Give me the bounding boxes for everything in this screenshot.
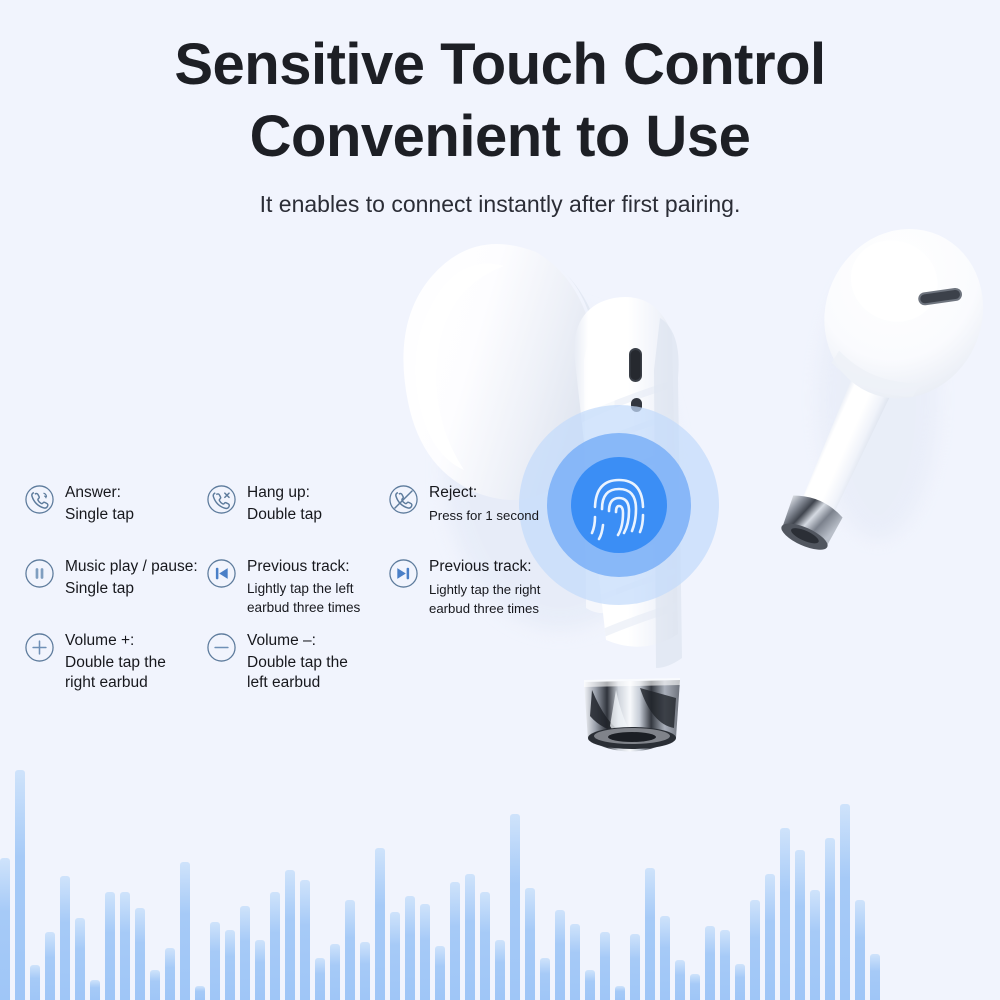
waveform-bar [405,896,415,1000]
header: Sensitive Touch Control Convenient to Us… [0,0,1000,218]
waveform-bar [675,960,685,1000]
feature-desc: Lightly tap the right earbud three times [429,580,561,618]
feature-desc: Double tap the left earbud [247,653,367,694]
audio-waveform [0,740,1000,1000]
waveform-bar [690,974,700,1000]
feature-desc: Double tap the right earbud [65,653,185,694]
page-subtitle: It enables to connect instantly after fi… [0,191,1000,218]
waveform-bar [60,876,70,1000]
waveform-bar [135,908,145,1000]
waveform-bar [270,892,280,1000]
feature-label: Volume +: [65,632,134,649]
waveform-bar [525,888,535,1000]
waveform-bar [285,870,295,1000]
waveform-bar [750,900,760,1000]
waveform-bar [585,970,595,1000]
page-title: Sensitive Touch Control Convenient to Us… [0,0,1000,166]
waveform-bar [825,838,835,1000]
waveform-bar [795,850,805,1000]
waveform-bar [300,880,310,1000]
waveform-bar [810,890,820,1000]
waveform-bar [840,804,850,1000]
feature-label: Volume –: [247,632,316,649]
feature-text: Music play / pause: Single tap [65,556,198,599]
waveform-bar [720,930,730,1000]
waveform-bar [450,882,460,1000]
waveform-bar [465,874,475,1000]
waveform-bar [15,770,25,1000]
waveform-bar [375,848,385,1000]
waveform-bar [510,814,520,1000]
page-title-line-2: Convenient to Use [0,108,1000,166]
feature-grid-empty-cell [388,630,588,704]
waveform-bar [120,892,130,1000]
minus-icon [206,632,237,663]
feature-hang-up[interactable]: Hang up: Double tap [206,482,388,556]
waveform-bar [330,944,340,1000]
waveform-bar [630,934,640,1000]
touch-control-feature-list: Answer: Single tap Hang up: Double tap [24,482,614,704]
feature-label: Reject: [429,484,477,501]
waveform-bar [555,910,565,1000]
waveform-bar [105,892,115,1000]
waveform-bar [240,906,250,1000]
feature-label: Answer: [65,484,121,501]
feature-label: Hang up: [247,484,310,501]
waveform-bar [180,862,190,1000]
waveform-bar [735,964,745,1000]
feature-desc: Single tap [65,505,134,525]
feature-desc: Press for 1 second [429,506,539,525]
feature-label: Previous track: [429,558,532,575]
waveform-bar [615,986,625,1000]
feature-previous-track-left[interactable]: Previous track: Lightly tap the left ear… [206,556,388,630]
feature-volume-down[interactable]: Volume –: Double tap the left earbud [206,630,388,704]
feature-label: Music play / pause: [65,558,198,575]
feature-desc: Lightly tap the left earbud three times [247,579,387,618]
waveform-bar [660,916,670,1000]
plus-icon [24,632,55,663]
waveform-bar [855,900,865,1000]
waveform-bar [225,930,235,1000]
waveform-bar [0,858,10,1000]
waveform-bar [360,942,370,1000]
feature-reject[interactable]: Reject: Press for 1 second [388,482,588,556]
feature-desc: Single tap [65,579,198,599]
waveform-bar [90,980,100,1000]
feature-music-play-pause[interactable]: Music play / pause: Single tap [24,556,206,630]
feature-text: Volume –: Double tap the left earbud [247,630,367,694]
waveform-bar [255,940,265,1000]
waveform-bar [540,958,550,1000]
waveform-bar [495,940,505,1000]
waveform-bar [435,946,445,1000]
waveform-bar [780,828,790,1000]
infographic-stage: Sensitive Touch Control Convenient to Us… [0,0,1000,1000]
waveform-bar [195,986,205,1000]
waveform-bar [570,924,580,1000]
phone-hangup-icon [206,484,237,515]
waveform-bar [210,922,220,1000]
skip-back-icon [206,558,237,589]
waveform-bar [480,892,490,1000]
waveform-bar [75,918,85,1000]
feature-text: Answer: Single tap [65,482,134,525]
waveform-bar [645,868,655,1000]
phone-answer-icon [24,484,55,515]
feature-text: Reject: Press for 1 second [429,482,539,525]
phone-reject-icon [388,484,419,515]
waveform-bar [315,958,325,1000]
skip-forward-icon [388,558,419,589]
waveform-bar [600,932,610,1000]
feature-answer[interactable]: Answer: Single tap [24,482,206,556]
feature-text: Previous track: Lightly tap the right ea… [429,556,561,618]
waveform-bar [345,900,355,1000]
waveform-bar [30,965,40,1000]
feature-text: Hang up: Double tap [247,482,322,525]
page-title-line-1: Sensitive Touch Control [0,36,1000,94]
waveform-bar [45,932,55,1000]
pause-icon [24,558,55,589]
feature-text: Previous track: Lightly tap the left ear… [247,556,387,617]
waveform-bar [150,970,160,1000]
waveform-bar [870,954,880,1000]
feature-previous-track-right[interactable]: Previous track: Lightly tap the right ea… [388,556,588,630]
waveform-bar [165,948,175,1000]
waveform-bar [390,912,400,1000]
earbud-right [730,203,1000,576]
feature-label: Previous track: [247,558,350,575]
feature-volume-up[interactable]: Volume +: Double tap the right earbud [24,630,206,704]
feature-desc: Double tap [247,505,322,525]
waveform-bar [420,904,430,1000]
feature-text: Volume +: Double tap the right earbud [65,630,185,694]
waveform-bar [765,874,775,1000]
waveform-bar [705,926,715,1000]
